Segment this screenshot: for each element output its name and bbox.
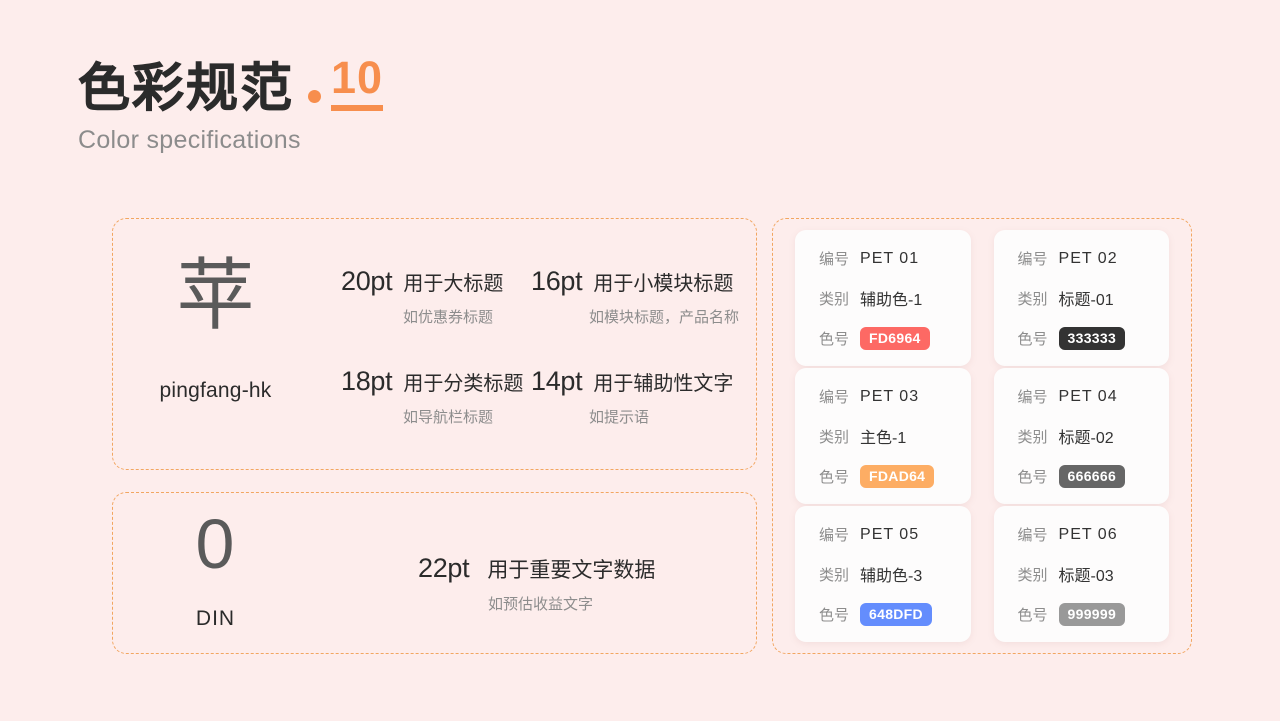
card-hex-label: 色号 [819,328,849,349]
card-hex-label: 色号 [1018,604,1048,625]
size-pt-label: 20pt [341,266,392,297]
card-category-value: 标题-01 [1059,286,1114,310]
size-pt-label: 14pt [531,366,582,397]
card-hex-row: 色号 FDAD64 [819,465,971,488]
card-hex-row: 色号 666666 [1018,465,1170,488]
card-hex-label: 色号 [819,466,849,487]
page-subtitle: Color specifications [78,126,383,155]
card-category-value: 主色-1 [860,424,906,448]
card-category-value: 标题-03 [1059,562,1114,586]
card-category-row: 类别 主色-1 [819,424,971,448]
card-category-row: 类别 标题-01 [1018,286,1170,310]
size-entry-22pt: 22pt 用于重要文字数据 如预估收益文字 [418,553,655,614]
card-code-label: 编号 [819,524,849,545]
card-category-row: 类别 标题-02 [1018,424,1170,448]
size-entry-line: 16pt 用于小模块标题 [531,266,739,297]
size-usage-label: 用于辅助性文字 [593,367,733,396]
size-entry-line: 20pt 用于大标题 [341,266,503,297]
size-pt-label: 18pt [341,366,392,397]
card-category-label: 类别 [1018,564,1048,585]
pingfang-glyph: 苹 [133,257,298,335]
size-example-label: 如预估收益文字 [418,593,655,614]
size-usage-label: 用于重要文字数据 [487,554,655,584]
size-entry-line: 14pt 用于辅助性文字 [531,366,733,397]
card-code-value: PET 04 [1059,388,1118,406]
slide-root: 色彩规范 10 Color specifications 苹 pingfang-… [0,0,1280,721]
bullet-dot-icon [308,90,321,103]
card-category-label: 类别 [819,288,849,309]
pingfang-font-sample: 苹 pingfang-hk [133,257,298,403]
color-card[interactable]: 编号 PET 06 类别 标题-03 色号 999999 [994,506,1170,642]
card-code-label: 编号 [1018,386,1048,407]
size-entry-14pt: 14pt 用于辅助性文字 如提示语 [531,366,733,427]
card-hex-row: 色号 FD6964 [819,327,971,350]
din-font-sample: 0 DIN [133,509,298,631]
size-entry-line: 22pt 用于重要文字数据 [418,553,655,584]
size-example-label: 如提示语 [531,406,733,427]
color-card[interactable]: 编号 PET 03 类别 主色-1 色号 FDAD64 [795,368,971,504]
font-size-panel: 苹 pingfang-hk 20pt 用于大标题 如优惠券标题 16pt 用于小… [112,218,757,470]
card-hex-label: 色号 [819,604,849,625]
card-category-label: 类别 [1018,288,1048,309]
card-code-value: PET 05 [860,526,919,544]
size-usage-label: 用于大标题 [403,267,503,296]
color-card[interactable]: 编号 PET 04 类别 标题-02 色号 666666 [994,368,1170,504]
page-header: 色彩规范 10 Color specifications [78,55,383,155]
size-entry-20pt: 20pt 用于大标题 如优惠券标题 [341,266,503,327]
card-category-row: 类别 辅助色-3 [819,562,971,586]
card-code-label: 编号 [819,386,849,407]
color-swatch-badge[interactable]: 666666 [1059,465,1126,488]
page-title: 色彩规范 [78,63,294,115]
color-card-grid: 编号 PET 01 类别 辅助色-1 色号 FD6964 编号 PET 02 类… [772,218,1192,654]
card-category-row: 类别 辅助色-1 [819,286,971,310]
size-example-label: 如模块标题，产品名称 [531,306,739,327]
size-pt-label: 16pt [531,266,582,297]
card-code-row: 编号 PET 02 [1018,248,1170,269]
section-number: 10 [331,55,383,100]
card-code-row: 编号 PET 01 [819,248,971,269]
card-code-value: PET 06 [1059,526,1118,544]
card-code-label: 编号 [1018,524,1048,545]
size-entry-line: 18pt 用于分类标题 [341,366,523,397]
size-usage-label: 用于分类标题 [403,367,523,396]
size-usage-label: 用于小模块标题 [593,267,733,296]
title-row: 色彩规范 10 [78,55,383,115]
card-code-row: 编号 PET 03 [819,386,971,407]
card-code-row: 编号 PET 06 [1018,524,1170,545]
size-entry-18pt: 18pt 用于分类标题 如导航栏标题 [341,366,523,427]
card-category-label: 类别 [819,426,849,447]
size-example-label: 如导航栏标题 [341,406,523,427]
card-category-value: 辅助色-1 [860,286,922,310]
pingfang-font-name: pingfang-hk [133,379,298,403]
color-card[interactable]: 编号 PET 02 类别 标题-01 色号 333333 [994,230,1170,366]
size-entry-16pt: 16pt 用于小模块标题 如模块标题，产品名称 [531,266,739,327]
color-swatch-badge[interactable]: 648DFD [860,603,932,626]
size-example-label: 如优惠券标题 [341,306,503,327]
card-category-value: 标题-02 [1059,424,1114,448]
color-card[interactable]: 编号 PET 01 类别 辅助色-1 色号 FD6964 [795,230,971,366]
card-category-row: 类别 标题-03 [1018,562,1170,586]
card-code-row: 编号 PET 05 [819,524,971,545]
card-code-value: PET 02 [1059,250,1118,268]
color-card[interactable]: 编号 PET 05 类别 辅助色-3 色号 648DFD [795,506,971,642]
card-hex-label: 色号 [1018,466,1048,487]
color-swatch-badge[interactable]: FD6964 [860,327,930,350]
card-hex-row: 色号 333333 [1018,327,1170,350]
card-hex-row: 色号 648DFD [819,603,971,626]
card-hex-row: 色号 999999 [1018,603,1170,626]
color-swatch-badge[interactable]: 999999 [1059,603,1126,626]
din-font-panel: 0 DIN 22pt 用于重要文字数据 如预估收益文字 [112,492,757,654]
card-code-row: 编号 PET 04 [1018,386,1170,407]
card-code-label: 编号 [819,248,849,269]
section-number-underline [331,105,383,111]
section-number-group: 10 [331,55,383,111]
card-category-label: 类别 [819,564,849,585]
card-category-label: 类别 [1018,426,1048,447]
card-code-value: PET 03 [860,388,919,406]
din-glyph: 0 [133,509,298,579]
din-font-name: DIN [133,607,298,631]
color-swatch-badge[interactable]: FDAD64 [860,465,934,488]
card-hex-label: 色号 [1018,328,1048,349]
size-pt-label: 22pt [418,553,469,584]
card-code-label: 编号 [1018,248,1048,269]
card-category-value: 辅助色-3 [860,562,922,586]
color-swatch-badge[interactable]: 333333 [1059,327,1126,350]
card-code-value: PET 01 [860,250,919,268]
